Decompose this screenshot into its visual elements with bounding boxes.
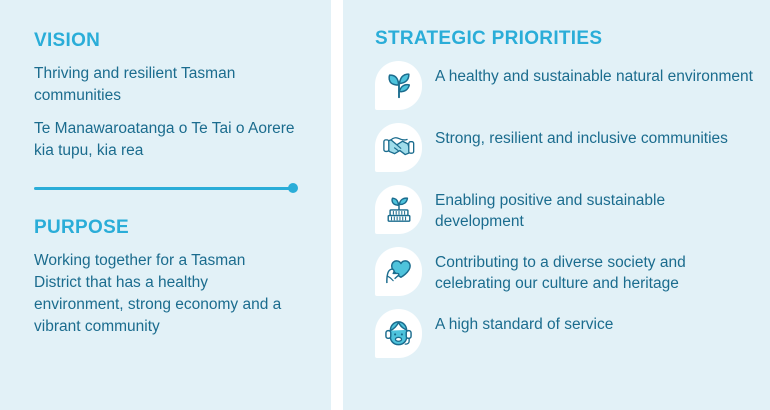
icon-badge xyxy=(375,123,422,172)
infographic-page: VISION Thriving and resilient Tasman com… xyxy=(0,0,770,410)
plant-sprout-icon xyxy=(384,70,414,100)
hand-holding-heart-icon xyxy=(383,256,414,286)
icon-badge xyxy=(375,185,422,234)
priority-label: A healthy and sustainable natural enviro… xyxy=(435,61,753,88)
purpose-heading: PURPOSE xyxy=(34,217,297,240)
priority-label: A high standard of service xyxy=(435,309,613,336)
vision-statement-en: Thriving and resilient Tasman communitie… xyxy=(34,63,297,107)
list-item: Enabling positive and sustainable develo… xyxy=(375,185,760,235)
section-divider xyxy=(34,183,298,193)
priority-label: Enabling positive and sustainable develo… xyxy=(435,185,755,233)
strategic-priorities-panel: STRATEGIC PRIORITIES A healthy and susta… xyxy=(343,0,770,410)
person-with-headset-icon xyxy=(384,318,413,349)
divider-end-dot-icon xyxy=(288,183,298,193)
vision-statement-mi: Te Manawaroatanga o Te Tai o Aorere kia … xyxy=(34,118,297,162)
list-item: A healthy and sustainable natural enviro… xyxy=(375,61,760,111)
handshake-icon xyxy=(383,132,415,162)
icon-badge xyxy=(375,61,422,110)
list-item: A high standard of service xyxy=(375,309,760,359)
list-item: Contributing to a diverse society and ce… xyxy=(375,247,760,297)
priority-list: A healthy and sustainable natural enviro… xyxy=(375,61,760,359)
vision-purpose-panel: VISION Thriving and resilient Tasman com… xyxy=(0,0,331,410)
panel-separator xyxy=(331,0,343,410)
icon-badge xyxy=(375,309,422,358)
priority-label: Strong, resilient and inclusive communit… xyxy=(435,123,728,150)
plant-growing-from-coins-icon xyxy=(384,194,414,225)
purpose-statement: Working together for a Tasman District t… xyxy=(34,250,297,338)
icon-badge xyxy=(375,247,422,296)
priority-label: Contributing to a diverse society and ce… xyxy=(435,247,755,295)
strategic-priorities-heading: STRATEGIC PRIORITIES xyxy=(375,28,760,51)
divider-line xyxy=(34,187,296,190)
vision-heading: VISION xyxy=(34,30,297,53)
list-item: Strong, resilient and inclusive communit… xyxy=(375,123,760,173)
